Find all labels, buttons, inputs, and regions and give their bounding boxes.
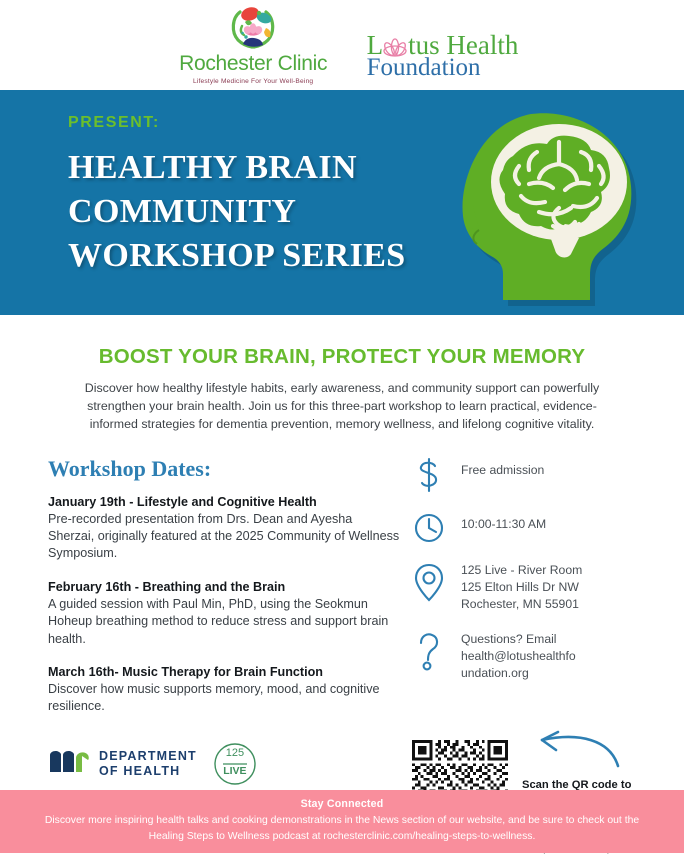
footer-body: Discover more inspiring health talks and… bbox=[0, 813, 684, 844]
questions-line-2: health@lotushealthfo bbox=[461, 649, 576, 663]
125-live-logo: 125 LIVE bbox=[213, 742, 257, 786]
time-text: 10:00-11:30 AM bbox=[461, 510, 546, 533]
funder-logos: DEPARTMENT OF HEALTH 125 LIVE bbox=[48, 742, 400, 786]
workshop-date: February 16th - Breathing and the Brain bbox=[48, 579, 400, 596]
rochester-clinic-name: Rochester Clinic bbox=[179, 53, 327, 75]
question-mark-icon bbox=[412, 631, 446, 672]
admission-text: Free admission bbox=[461, 456, 544, 479]
mdh-line-1: DEPARTMENT bbox=[99, 749, 197, 763]
workshop-date: January 19th - Lifestyle and Cognitive H… bbox=[48, 494, 400, 511]
page-headline: BOOST YOUR BRAIN, PROTECT YOUR MEMORY bbox=[0, 345, 684, 369]
rochester-clinic-logo: Rochester Clinic Lifestyle Medicine For … bbox=[166, 6, 341, 85]
mn-department-of-health-logo: DEPARTMENT OF HEALTH bbox=[48, 749, 197, 779]
workshop-date: March 16th- Music Therapy for Brain Func… bbox=[48, 664, 400, 681]
questions-text: Questions? Email health@lotushealthfo un… bbox=[461, 631, 576, 683]
location-line-1: 125 Live - River Room bbox=[461, 563, 582, 577]
banner-text-block: PRESENT: HEALTHY BRAIN COMMUNITY WORKSHO… bbox=[68, 114, 448, 279]
125-live-top: 125 bbox=[213, 747, 257, 759]
workshop-description: A guided session with Paul Min, PhD, usi… bbox=[48, 596, 400, 648]
location-pin-icon bbox=[412, 562, 446, 603]
intro-paragraph: Discover how healthy lifestyle habits, e… bbox=[72, 379, 612, 434]
content-columns: Workshop Dates: January 19th - Lifestyle… bbox=[0, 456, 684, 732]
workshop-description: Discover how music supports memory, mood… bbox=[48, 681, 400, 716]
lotus-flower-icon bbox=[382, 36, 408, 58]
workshops-column: Workshop Dates: January 19th - Lifestyle… bbox=[0, 456, 400, 732]
info-row-questions: Questions? Email health@lotushealthfo un… bbox=[412, 631, 684, 683]
questions-line-1: Questions? Email bbox=[461, 632, 557, 646]
banner-title-line-1: HEALTHY BRAIN bbox=[68, 146, 448, 190]
flyer-page: Rochester Clinic Lifestyle Medicine For … bbox=[0, 0, 684, 853]
banner-title-line-2: COMMUNITY bbox=[68, 190, 448, 234]
workshop-dates-title: Workshop Dates: bbox=[48, 456, 400, 482]
questions-line-3: undation.org bbox=[461, 666, 529, 680]
location-line-3: Rochester, MN 55901 bbox=[461, 597, 579, 611]
hero-banner: PRESENT: HEALTHY BRAIN COMMUNITY WORKSHO… bbox=[0, 90, 684, 315]
workshop-item: March 16th- Music Therapy for Brain Func… bbox=[48, 664, 400, 716]
banner-title-line-3: WORKSHOP SERIES bbox=[68, 234, 448, 278]
info-row-admission: Free admission bbox=[412, 456, 684, 493]
lotus-circle-emblem-icon bbox=[226, 6, 280, 52]
footer-title: Stay Connected bbox=[0, 798, 684, 810]
mdh-wordmark: DEPARTMENT OF HEALTH bbox=[99, 749, 197, 779]
rochester-clinic-tagline: Lifestyle Medicine For Your Well-Being bbox=[193, 78, 313, 85]
mn-department-of-health-icon bbox=[48, 749, 90, 778]
footer: Stay Connected Discover more inspiring h… bbox=[0, 790, 684, 853]
workshop-item: January 19th - Lifestyle and Cognitive H… bbox=[48, 494, 400, 563]
curved-arrow-left-icon bbox=[518, 728, 628, 777]
present-label: PRESENT: bbox=[68, 114, 448, 132]
location-line-2: 125 Elton Hills Dr NW bbox=[461, 580, 579, 594]
location-text: 125 Live - River Room 125 Elton Hills Dr… bbox=[461, 562, 582, 614]
workshop-description: Pre-recorded presentation from Drs. Dean… bbox=[48, 511, 400, 563]
mdh-line-2: OF HEALTH bbox=[99, 764, 180, 778]
head-with-brain-icon bbox=[455, 102, 670, 307]
details-column: Free admission 10:00-11:30 AM bbox=[400, 456, 684, 732]
clock-icon bbox=[412, 510, 446, 545]
workshop-item: February 16th - Breathing and the Brain … bbox=[48, 579, 400, 648]
info-row-time: 10:00-11:30 AM bbox=[412, 510, 684, 545]
lotus-health-foundation-logo: L tus Health Foundation bbox=[367, 6, 519, 80]
125-live-bottom: LIVE bbox=[213, 765, 257, 777]
info-row-location: 125 Live - River Room 125 Elton Hills Dr… bbox=[412, 562, 684, 614]
logo-header: Rochester Clinic Lifestyle Medicine For … bbox=[0, 0, 684, 90]
dollar-sign-icon bbox=[412, 456, 446, 493]
